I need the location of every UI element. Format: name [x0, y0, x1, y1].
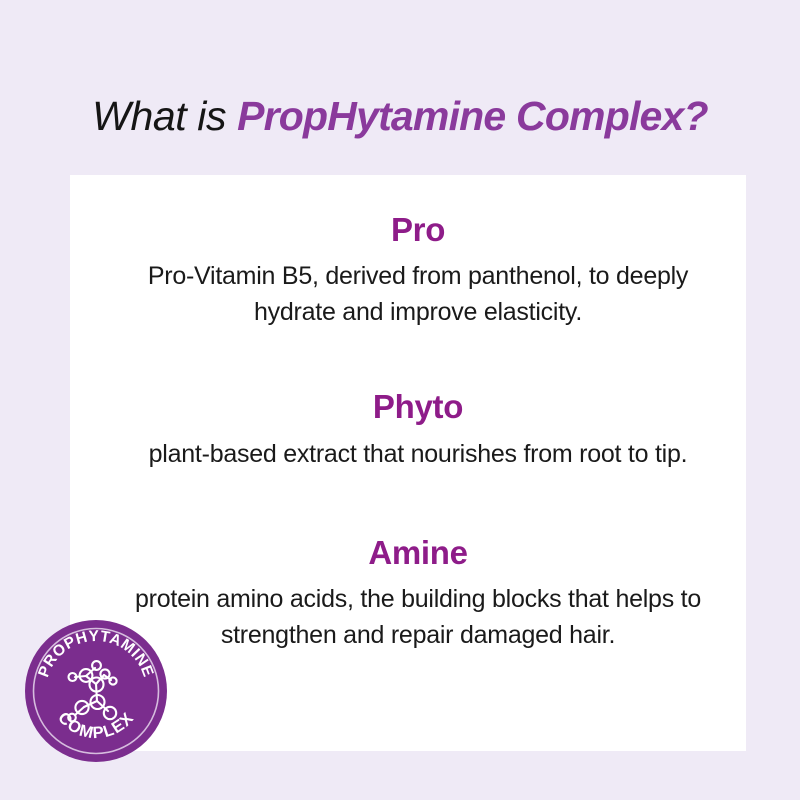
section-amine-title: Amine	[130, 532, 706, 573]
section-spacer	[130, 364, 706, 386]
section-phyto-body: plant-based extract that nourishes from …	[130, 437, 706, 473]
section-phyto: Phyto plant-based extract that nourishes…	[130, 386, 706, 472]
section-spacer	[130, 506, 706, 532]
section-pro-title: Pro	[130, 209, 706, 250]
prophytamine-complex-badge: PROPHYTAMINE COMPLEX	[24, 619, 168, 763]
section-amine: Amine protein amino acids, the building …	[130, 532, 706, 653]
section-pro: Pro Pro-Vitamin B5, derived from panthen…	[130, 209, 706, 330]
section-phyto-title: Phyto	[130, 386, 706, 427]
content-card: Pro Pro-Vitamin B5, derived from panthen…	[70, 175, 746, 751]
page-title-lead: What is	[92, 93, 237, 139]
section-amine-body: protein amino acids, the building blocks…	[130, 582, 706, 653]
page-title: What is PropHytamine Complex?	[0, 92, 800, 141]
poster-canvas: What is PropHytamine Complex? Pro Pro-Vi…	[0, 0, 800, 800]
content-card-inner: Pro Pro-Vitamin B5, derived from panthen…	[130, 209, 706, 653]
page-title-brand: PropHytamine Complex?	[237, 93, 708, 139]
section-pro-body: Pro-Vitamin B5, derived from panthenol, …	[130, 259, 706, 330]
